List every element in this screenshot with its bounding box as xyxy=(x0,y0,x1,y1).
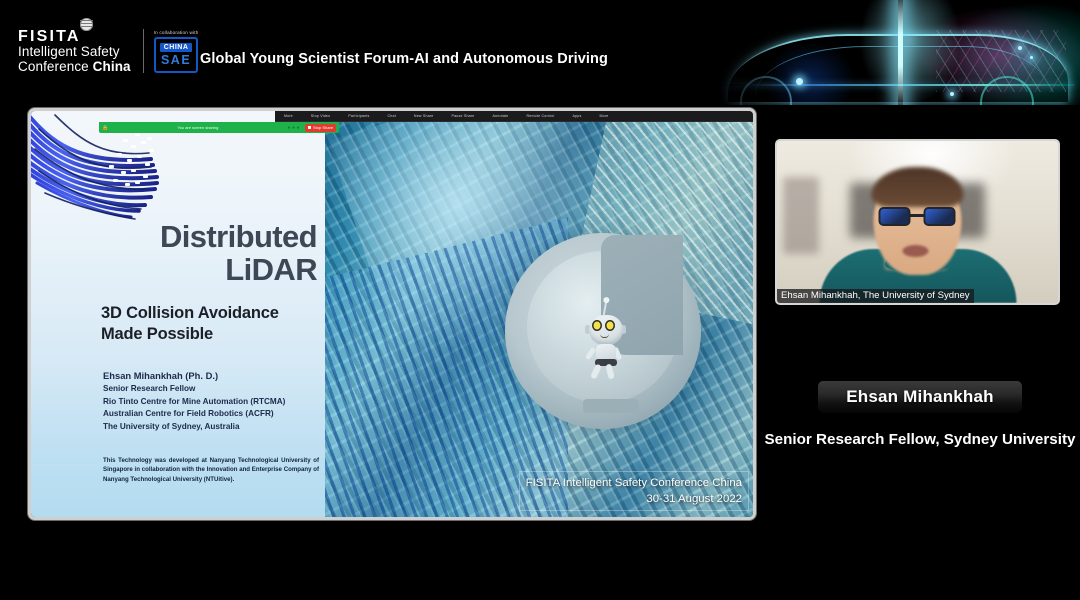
participant-video-tile[interactable]: Ehsan Mihankhah, The University of Sydne… xyxy=(775,139,1060,305)
shared-screen-border: Distributed LiDAR 3D Collision Avoidance… xyxy=(28,108,756,520)
toolbar-button-participants[interactable]: Participants xyxy=(339,114,378,118)
speaker-role-wrapper: Senior Research Fellow, Sydney Universit… xyxy=(760,431,1080,448)
toolbar-button-annotate[interactable]: Annotate xyxy=(483,114,517,118)
slide-subtitle-line2: Made Possible xyxy=(101,324,279,345)
toolbar-button-remote-control[interactable]: Remote Control xyxy=(517,114,563,118)
slide-subtitle: 3D Collision Avoidance Made Possible xyxy=(101,303,279,345)
fisita-logo: FISITA Intelligent Safety Conference Chi… xyxy=(18,28,143,74)
sponsor-footer: Co-organizers 车辆与运载学院 School of Vehicle … xyxy=(0,528,1080,600)
slide-title: Distributed LiDAR xyxy=(127,221,317,287)
stop-square-icon xyxy=(308,126,311,129)
author-affil-2: Australian Centre for Field Robotics (AC… xyxy=(103,408,285,420)
toolbar-button-apps[interactable]: Apps xyxy=(563,114,590,118)
slide-title-panel: Distributed LiDAR 3D Collision Avoidance… xyxy=(31,111,325,520)
slide-subtitle-line1: 3D Collision Avoidance xyxy=(101,303,279,324)
shared-screen-region: Distributed LiDAR 3D Collision Avoidance… xyxy=(28,108,756,520)
brand-lockup: FISITA Intelligent Safety Conference Chi… xyxy=(18,28,198,74)
robot-character-icon xyxy=(583,307,629,379)
fisita-line-3-b: China xyxy=(93,59,131,74)
toolbar-button-more[interactable]: More xyxy=(590,114,617,118)
zoom-meeting-toolbar[interactable]: Mute Stop Video Participants Chat New Sh… xyxy=(275,111,756,122)
slide-title-line2: LiDAR xyxy=(127,254,317,287)
brand-divider xyxy=(143,29,144,73)
toolbar-button-pause-share[interactable]: Pause Share xyxy=(443,114,484,118)
author-name: Ehsan Mihankhah (Ph. D.) xyxy=(103,369,285,383)
speaker-name: Ehsan Mihankhah xyxy=(846,387,994,407)
toolbar-button-stop-video[interactable]: Stop Video xyxy=(302,114,340,118)
slide-caption-line2: 30-31 August 2022 xyxy=(526,491,742,507)
author-affil-1: Rio Tinto Centre for Mine Automation (RT… xyxy=(103,396,285,408)
fisita-line-3: Conference China xyxy=(18,60,131,75)
control-dots-icon[interactable]: ●●● xyxy=(287,125,301,131)
collaboration-label: In collaboration with xyxy=(154,30,199,35)
author-affil-3: The University of Sydney, Australia xyxy=(103,421,285,433)
toolbar-button-new-share[interactable]: New Share xyxy=(405,114,443,118)
avatar xyxy=(825,163,1010,303)
sae-text: SAE xyxy=(161,54,191,67)
author-role: Senior Research Fellow xyxy=(103,383,285,395)
globe-icon xyxy=(80,18,93,31)
sharing-status-text: You are screen sharing xyxy=(112,125,283,130)
screen-sharing-status-bar[interactable]: 🔒 You are screen sharing ●●● Stop Share xyxy=(99,122,339,133)
participant-name-overlay: Ehsan Mihankhah, The University of Sydne… xyxy=(777,289,974,303)
stop-share-label: Stop Share xyxy=(313,125,333,130)
slide-author-block: Ehsan Mihankhah (Ph. D.) Senior Research… xyxy=(103,369,285,433)
slide-footnote: This Technology was developed at Nanyang… xyxy=(103,456,319,484)
sae-china-text: CHINA xyxy=(160,43,193,52)
neon-car-icon xyxy=(700,0,1080,105)
meeting-screen: FISITA Intelligent Safety Conference Chi… xyxy=(0,0,1080,600)
event-header: FISITA Intelligent Safety Conference Chi… xyxy=(0,0,1080,100)
fisita-line-2: Intelligent Safety xyxy=(18,45,131,60)
toolbar-button-chat[interactable]: Chat xyxy=(379,114,405,118)
lock-icon: 🔒 xyxy=(102,125,108,131)
stop-share-button[interactable]: Stop Share xyxy=(305,124,336,132)
slide-caption: FISITA Intelligent Safety Conference Chi… xyxy=(519,471,749,511)
speaker-role: Senior Research Fellow, Sydney Universit… xyxy=(760,431,1080,448)
robot-in-hatch-photo: FISITA Intelligent Safety Conference Chi… xyxy=(325,111,756,520)
sae-badge: CHINA SAE xyxy=(154,37,198,73)
hatch-ledge xyxy=(583,399,639,413)
china-sae-logo: In collaboration with CHINA SAE xyxy=(154,30,199,73)
slide-title-line1: Distributed xyxy=(127,221,317,254)
slide-caption-line1: FISITA Intelligent Safety Conference Chi… xyxy=(526,475,742,491)
fisita-wordmark: FISITA xyxy=(18,28,131,45)
fisita-line-3-a: Conference xyxy=(18,59,93,74)
speaker-name-plate: Ehsan Mihankhah xyxy=(818,381,1022,413)
page-title: Global Young Scientist Forum-AI and Auto… xyxy=(200,51,608,67)
toolbar-button-mute[interactable]: Mute xyxy=(275,114,302,118)
